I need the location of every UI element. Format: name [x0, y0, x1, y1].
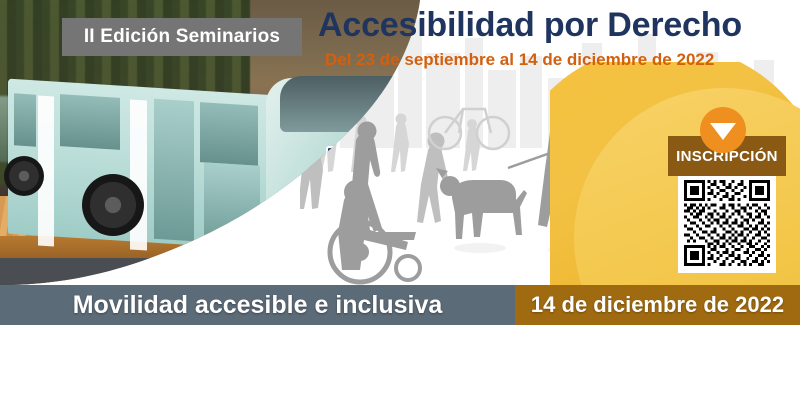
- date-range-subtitle: Del 23 de septiembre al 14 de diciembre …: [325, 50, 714, 70]
- session-date: 14 de diciembre de 2022: [531, 292, 784, 318]
- session-title: Movilidad accesible e inclusiva: [73, 291, 443, 320]
- edition-badge-label: II Edición Seminarios: [84, 26, 280, 48]
- edition-badge: II Edición Seminarios: [62, 18, 302, 56]
- session-title-band: Movilidad accesible e inclusiva: [0, 285, 515, 325]
- session-date-band: 14 de diciembre de 2022: [515, 285, 800, 325]
- page-title: Accesibilidad por Derecho: [318, 6, 742, 45]
- qr-card[interactable]: [678, 172, 776, 273]
- qr-code-icon[interactable]: [684, 180, 770, 266]
- triangle-down-icon: [700, 107, 746, 153]
- hero-banner: II Edición Seminarios Accesibilidad por …: [0, 0, 800, 285]
- footer: Organizan: Colabora: GOBIERNO DE ESPAÑA …: [0, 325, 800, 400]
- poster-root: II Edición Seminarios Accesibilidad por …: [0, 0, 800, 400]
